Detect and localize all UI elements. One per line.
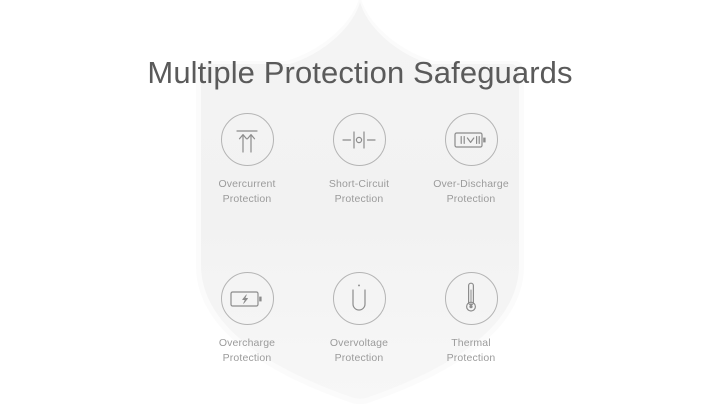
feature-label-over-discharge: Over-Discharge Protection [433, 177, 509, 206]
icon-circle-overvoltage [333, 272, 386, 325]
icon-circle-overcurrent [221, 113, 274, 166]
feature-label-overvoltage: Overvoltage Protection [330, 336, 388, 365]
protection-feature-grid: Overcurrent Protection [191, 113, 527, 365]
feature-thermal-protection[interactable]: Thermal Protection [415, 272, 527, 365]
feature-overvoltage-protection[interactable]: Overvoltage Protection [303, 272, 415, 365]
feature-over-discharge-protection[interactable]: Over-Discharge Protection [415, 113, 527, 206]
overvoltage-u-icon [348, 283, 370, 315]
icon-circle-short-circuit [333, 113, 386, 166]
feature-row-1: Overcurrent Protection [191, 113, 527, 206]
feature-label-overcharge: Overcharge Protection [219, 336, 275, 365]
battery-bolt-icon [230, 289, 264, 309]
feature-label-thermal: Thermal Protection [447, 336, 496, 365]
battery-discharge-icon [454, 130, 488, 150]
overcurrent-arrows-icon [232, 126, 262, 154]
feature-row-2: Overcharge Protection Overvoltage Protec [191, 272, 527, 365]
feature-overcharge-protection[interactable]: Overcharge Protection [191, 272, 303, 365]
feature-label-short-circuit: Short-Circuit Protection [329, 177, 389, 206]
icon-circle-over-discharge [445, 113, 498, 166]
protection-safeguards-graphic: Multiple Protection Safeguards [0, 0, 720, 405]
page-title: Multiple Protection Safeguards [0, 54, 720, 92]
thermometer-icon [462, 282, 480, 316]
icon-circle-overcharge [221, 272, 274, 325]
feature-short-circuit-protection[interactable]: Short-Circuit Protection [303, 113, 415, 206]
feature-label-overcurrent: Overcurrent Protection [218, 177, 275, 206]
icon-circle-thermal [445, 272, 498, 325]
feature-overcurrent-protection[interactable]: Overcurrent Protection [191, 113, 303, 206]
short-circuit-contact-icon [342, 129, 376, 151]
